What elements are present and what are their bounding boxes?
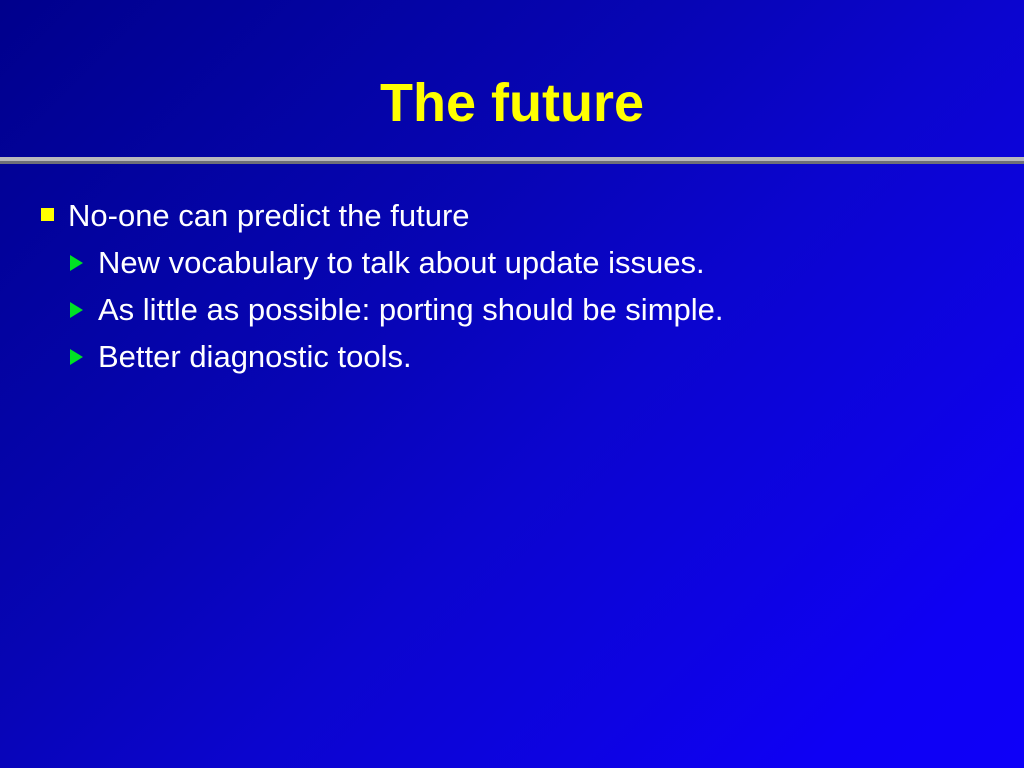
list-item: No-one can predict the future [0, 196, 1024, 243]
divider-dark-rule [0, 161, 1024, 164]
square-bullet-icon [41, 208, 54, 221]
title-divider [0, 157, 1024, 164]
list-item-label: New vocabulary to talk about update issu… [98, 243, 705, 283]
triangle-bullet-icon [70, 349, 83, 365]
list-item: Better diagnostic tools. [0, 337, 1024, 384]
triangle-bullet-icon [70, 302, 83, 318]
presentation-slide: The future No-one can predict the future… [0, 0, 1024, 768]
list-item: New vocabulary to talk about update issu… [0, 243, 1024, 290]
page-title: The future [0, 72, 1024, 134]
slide-title-area: The future [0, 72, 1024, 134]
list-item-label: No-one can predict the future [68, 196, 470, 236]
list-item: As little as possible: porting should be… [0, 290, 1024, 337]
slide-body: No-one can predict the future New vocabu… [0, 196, 1024, 384]
list-item-label: As little as possible: porting should be… [98, 290, 724, 330]
triangle-bullet-icon [70, 255, 83, 271]
list-item-label: Better diagnostic tools. [98, 337, 412, 377]
